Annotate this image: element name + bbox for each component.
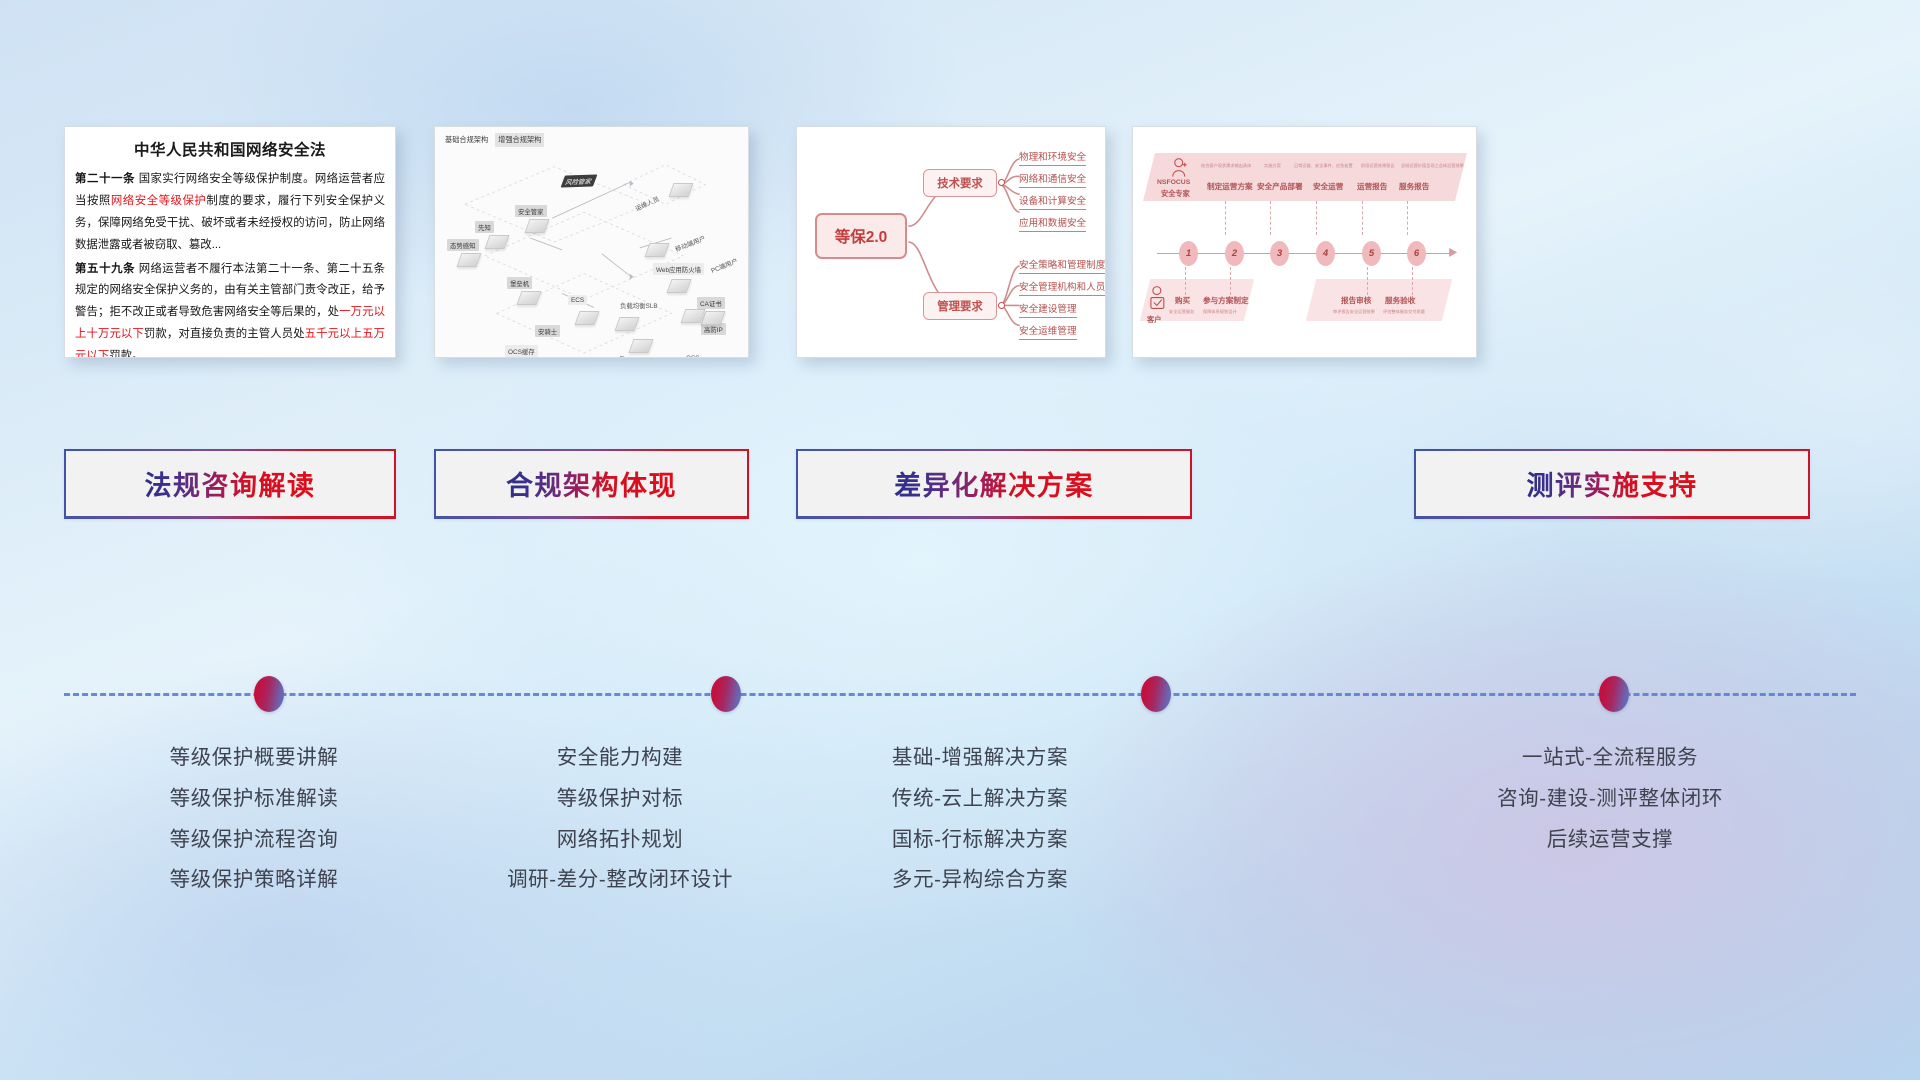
timeline-bullet-4[interactable] — [1599, 676, 1629, 712]
arch-node-ecs: ECS — [568, 295, 587, 305]
section-header-box-2[interactable]: 合规架构体现 — [434, 449, 749, 519]
timeline-step-5: 5 — [1362, 241, 1381, 266]
law-article-59: 第五十九条 网络运营者不履行本法第二十一条、第二十五条规定的网络安全保护义务的，… — [75, 259, 385, 358]
arch-node-security-manager: 安全管家 — [515, 205, 547, 217]
arch-node-situation-awareness: 态势感知 — [447, 239, 479, 251]
timeline-bottom-sub-2: 审评报告安全运营效果 — [1333, 309, 1375, 315]
card-service-timeline[interactable]: NSFOCUS 安全专家 客户 结合客户现状需求输出具体 实施方案 日常运维、安… — [1132, 126, 1477, 358]
arch-node-bastion-host: 堡垒机 — [507, 277, 532, 289]
progress-timeline-line — [64, 693, 1856, 696]
mindmap-leaf-tech-3: 应用和数据安全 — [1019, 215, 1086, 232]
mindmap-root-node: 等保2.0 — [815, 213, 907, 259]
mindmap-branch-technical: 技术要求 — [923, 169, 997, 197]
column-items-2: 安全能力构建 等级保护对标 网络拓扑规划 调研-差分-整改闭环设计 — [430, 738, 810, 901]
arch-node-risk-manager: 风险管家 — [561, 174, 597, 187]
law-article-21: 第二十一条 国家实行网络安全等级保护制度。网络运营者应当按照网络安全等级保护制度… — [75, 169, 385, 257]
timeline-connector-b3 — [1367, 267, 1368, 295]
timeline-step-4: 4 — [1316, 241, 1335, 266]
law-card-body: 第二十一条 国家实行网络安全等级保护制度。网络运营者应当按照网络安全等级保护制度… — [65, 169, 395, 358]
mindmap-leaf-tech-1: 网络和通信安全 — [1019, 171, 1086, 188]
mindmap-leaf-mgmt-2: 安全建设管理 — [1019, 301, 1077, 318]
list-item: 等级保护标准解读 — [64, 779, 444, 820]
section-header-box-4[interactable]: 测评实施支持 — [1414, 449, 1810, 519]
timeline-step-6: 6 — [1407, 241, 1426, 266]
arch-node-waf: Web应用防火墙 — [653, 263, 704, 275]
timeline-bullet-3[interactable] — [1141, 676, 1171, 712]
section-header-box-3[interactable]: 差异化解决方案 — [796, 449, 1192, 519]
list-item: 多元-异构综合方案 — [790, 860, 1170, 901]
timeline-bullet-2[interactable] — [711, 676, 741, 712]
timeline-step-2: 2 — [1225, 241, 1244, 266]
list-item: 调研-差分-整改闭环设计 — [430, 860, 810, 901]
column-items-4: 一站式-全流程服务 咨询-建设-测评整体闭环 后续运营支撑 — [1410, 738, 1810, 860]
column-items-3: 基础-增强解决方案 传统-云上解决方案 国标-行标解决方案 多元-异构综合方案 — [790, 738, 1170, 901]
section-header-label-3: 差异化解决方案 — [894, 464, 1094, 503]
mindmap-branch-management: 管理要求 — [923, 292, 997, 320]
law-article-21-highlight: 网络安全等级保护 — [111, 195, 207, 207]
card-cloud-architecture[interactable]: 基础合规架构 增强合规架构 — [434, 126, 749, 358]
law-article-59-label: 第五十九条 — [75, 263, 135, 275]
list-item: 后续运营支撑 — [1410, 820, 1810, 861]
law-article-59-text-c: 罚款。 — [109, 350, 143, 358]
section-header-label-2: 合规架构体现 — [506, 464, 677, 503]
mindmap-collapse-dot-technical[interactable] — [998, 179, 1005, 186]
arch-node-xianzhi: 先知 — [475, 221, 494, 233]
timeline-bottom-sub-0: 安全运营服务 — [1169, 309, 1194, 315]
arch-node-ca-certificate: CA证书 — [697, 297, 725, 309]
timeline-bottom-label-1: 参与方案制定 — [1203, 295, 1249, 306]
section-header-label-4: 测评实施支持 — [1527, 464, 1698, 503]
arch-node-slb: 负载均衡SLB — [617, 299, 661, 311]
list-item: 等级保护概要讲解 — [64, 738, 444, 779]
list-item: 一站式-全流程服务 — [1410, 738, 1810, 779]
service-timeline-diagram: NSFOCUS 安全专家 客户 结合客户现状需求输出具体 实施方案 日常运维、安… — [1133, 127, 1476, 357]
list-item: 等级保护对标 — [430, 779, 810, 820]
mindmap-diagram: 等保2.0 技术要求 物理和环境安全 网络和通信安全 设备和计算安全 应用和数据… — [797, 127, 1105, 357]
law-article-59-text-b: 罚款，对直接负责的主管人员处 — [144, 328, 305, 340]
mindmap-leaf-mgmt-3: 安全运维管理 — [1019, 323, 1077, 340]
list-item: 国标-行标解决方案 — [790, 820, 1170, 861]
mindmap-leaf-mgmt-1: 安全管理机构和人员 — [1019, 279, 1105, 296]
law-article-21-label: 第二十一条 — [75, 173, 135, 185]
timeline-bottom-label-2: 报告审核 — [1341, 295, 1371, 306]
list-item: 基础-增强解决方案 — [790, 738, 1170, 779]
architecture-diagram: 基础合规架构 增强合规架构 — [435, 127, 748, 357]
list-item: 安全能力构建 — [430, 738, 810, 779]
law-card-title: 中华人民共和国网络安全法 — [65, 138, 395, 160]
card-mindmap-dengbao[interactable]: 等保2.0 技术要求 物理和环境安全 网络和通信安全 设备和计算安全 应用和数据… — [796, 126, 1106, 358]
timeline-connector-b1 — [1185, 267, 1186, 295]
timeline-bottom-sub-1: 保障体系规划设计 — [1203, 309, 1237, 315]
column-items-1: 等级保护概要讲解 等级保护标准解读 等级保护流程咨询 等级保护策略详解 — [64, 738, 444, 901]
timeline-bottom-sub-3: 评估整体服务交付质量 — [1383, 309, 1425, 315]
arch-node-ocs-cache: OCS缓存 — [505, 345, 538, 357]
section-header-label-1: 法规咨询解读 — [145, 464, 316, 503]
list-item: 网络拓扑规划 — [430, 820, 810, 861]
list-item: 等级保护策略详解 — [64, 860, 444, 901]
list-item: 传统-云上解决方案 — [790, 779, 1170, 820]
timeline-bottom-label-3: 服务验收 — [1385, 295, 1415, 306]
list-item: 等级保护流程咨询 — [64, 820, 444, 861]
timeline-step-1: 1 — [1179, 241, 1198, 266]
timeline-connector-b2 — [1230, 267, 1231, 295]
timeline-connector-b4 — [1412, 267, 1413, 295]
mindmap-leaf-tech-2: 设备和计算安全 — [1019, 193, 1086, 210]
mindmap-collapse-dot-management[interactable] — [998, 302, 1005, 309]
timeline-bullet-1[interactable] — [254, 676, 284, 712]
list-item: 咨询-建设-测评整体闭环 — [1410, 779, 1810, 820]
arch-node-oss: OSS — [683, 353, 703, 358]
card-cybersecurity-law[interactable]: 中华人民共和国网络安全法 第二十一条 国家实行网络安全等级保护制度。网络运营者应… — [64, 126, 396, 358]
arch-node-security-knight: 安骑士 — [535, 325, 560, 337]
section-header-box-1[interactable]: 法规咨询解读 — [64, 449, 396, 519]
timeline-step-3: 3 — [1270, 241, 1289, 266]
mindmap-leaf-tech-0: 物理和环境安全 — [1019, 149, 1086, 166]
timeline-bottom-label-0: 购买 — [1175, 295, 1190, 306]
mindmap-leaf-mgmt-0: 安全策略和管理制度 — [1019, 257, 1105, 274]
